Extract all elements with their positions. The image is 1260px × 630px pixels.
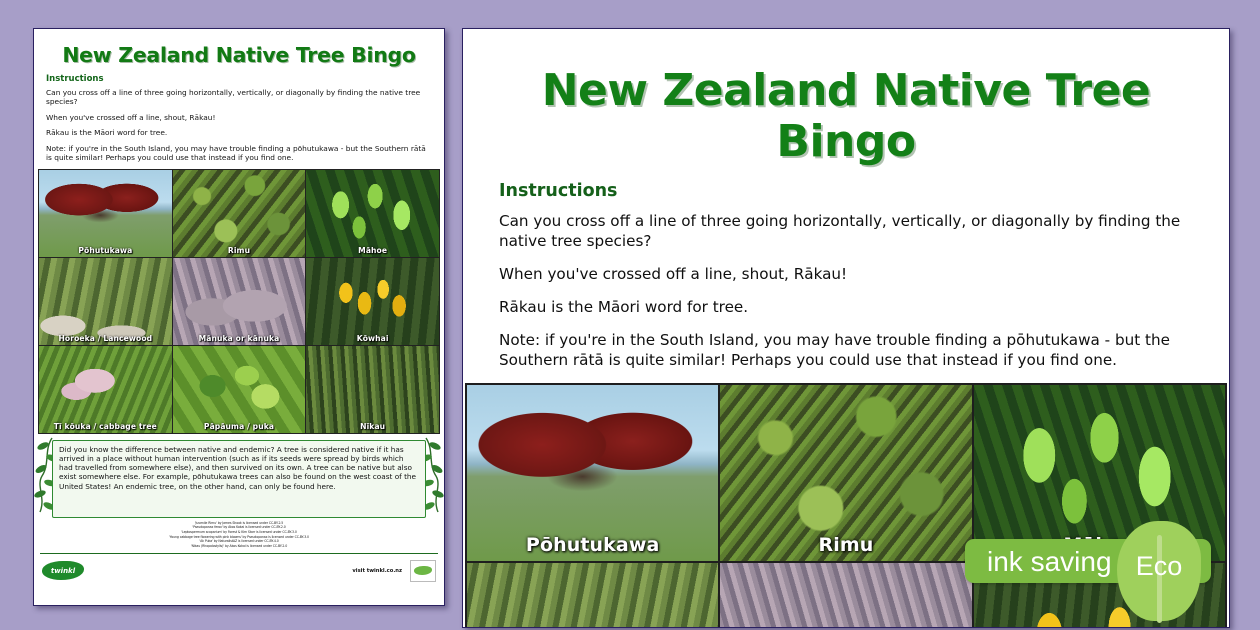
paragraph-1: Can you cross off a line of three going … bbox=[499, 211, 1195, 251]
paragraph-4: Note: if you're in the South Island, you… bbox=[499, 330, 1195, 370]
instructions-heading: Instructions bbox=[499, 181, 1195, 201]
bingo-cell-label: Pōhutukawa bbox=[467, 534, 718, 556]
bingo-cell[interactable]: Kōwhai bbox=[306, 258, 439, 345]
bingo-cell-label: Horoeka / Lancewood bbox=[39, 334, 172, 343]
bingo-cell[interactable]: Mānuka or kānuka bbox=[720, 563, 971, 628]
thumbnail-paragraph-2: When you've crossed off a line, shout, R… bbox=[46, 113, 432, 122]
eco-badge-label: ink saving bbox=[987, 546, 1112, 578]
bingo-cell[interactable]: Horoeka / Lancewood bbox=[39, 258, 172, 345]
bingo-cell[interactable]: Pōhutukawa bbox=[39, 170, 172, 257]
bingo-cell[interactable]: Nīkau bbox=[306, 346, 439, 433]
tree-photo bbox=[39, 170, 172, 257]
thumbnail-paragraph-1: Can you cross off a line of three going … bbox=[46, 88, 432, 107]
thumbnail-page-title: New Zealand Native Tree Bingo bbox=[46, 43, 432, 67]
tree-photo bbox=[306, 346, 439, 433]
bingo-cell[interactable]: Pōhutukawa bbox=[467, 385, 718, 561]
attribution-line: 'Nikau (Rhopalostylis)' by Akos Kokai is… bbox=[40, 544, 438, 549]
tree-photo bbox=[173, 170, 306, 257]
page-title: New Zealand Native Tree Bingo bbox=[497, 65, 1195, 167]
bingo-cell-label: Rimu bbox=[720, 534, 971, 556]
bingo-cell-label: Tī kōuka / cabbage tree bbox=[39, 422, 172, 431]
visit-url-text[interactable]: visit twinkl.co.nz bbox=[352, 568, 402, 574]
thumbnail-paragraph-4: Note: if you're in the South Island, you… bbox=[46, 144, 432, 163]
thumbnail-attributions: 'Juvenile Rimu' by James Shook is licens… bbox=[40, 521, 438, 549]
screenshot-canvas: New Zealand Native Tree Bingo Instructio… bbox=[0, 0, 1260, 630]
bingo-cell[interactable]: Māhoe bbox=[306, 170, 439, 257]
tree-photo bbox=[173, 346, 306, 433]
bingo-cell[interactable]: Mānuka or kānuka bbox=[173, 258, 306, 345]
bingo-cell-label: Rimu bbox=[173, 246, 306, 255]
thumbnail-info-box-text: Did you know the difference between nati… bbox=[52, 440, 426, 518]
paragraph-3: Rākau is the Māori word for tree. bbox=[499, 297, 1195, 317]
tree-photo bbox=[306, 170, 439, 257]
footer-divider bbox=[40, 553, 438, 554]
bingo-cell[interactable]: Horoeka / Lancewood bbox=[467, 563, 718, 628]
leaf-icon: Eco bbox=[1117, 521, 1201, 621]
tree-photo bbox=[720, 563, 971, 628]
bingo-cell-label: Nīkau bbox=[306, 422, 439, 431]
ink-saving-eco-badge: ink saving Eco bbox=[965, 531, 1217, 589]
thumbnail-paragraph-3: Rākau is the Māori word for tree. bbox=[46, 128, 432, 137]
tree-photo bbox=[467, 563, 718, 628]
eco-stamp-icon bbox=[410, 560, 436, 582]
bingo-cell-label: Māhoe bbox=[306, 246, 439, 255]
tree-photo bbox=[173, 258, 306, 345]
tree-photo bbox=[39, 258, 172, 345]
tree-photo bbox=[306, 258, 439, 345]
bingo-cell-label: Pōhutukawa bbox=[39, 246, 172, 255]
bingo-cell-label: Pāpāuma / puka bbox=[173, 422, 306, 431]
twinkl-logo[interactable]: twinkl bbox=[42, 561, 84, 580]
bingo-cell[interactable]: Pāpāuma / puka bbox=[173, 346, 306, 433]
bingo-cell-label: Kōwhai bbox=[306, 334, 439, 343]
tree-photo bbox=[39, 346, 172, 433]
bingo-cell-label: Mānuka or kānuka bbox=[173, 334, 306, 343]
eco-badge-leaf-label: Eco bbox=[1117, 551, 1201, 582]
thumbnail-footer: twinkl visit twinkl.co.nz bbox=[42, 558, 436, 584]
bingo-cell[interactable]: Rimu bbox=[173, 170, 306, 257]
thumbnail-bingo-grid: PōhutukawaRimuMāhoeHoroeka / LancewoodMā… bbox=[38, 169, 440, 434]
bingo-cell[interactable]: Tī kōuka / cabbage tree bbox=[39, 346, 172, 433]
paragraph-2: When you've crossed off a line, shout, R… bbox=[499, 264, 1195, 284]
document-thumbnail-preview[interactable]: New Zealand Native Tree Bingo Instructio… bbox=[33, 28, 445, 606]
bingo-cell[interactable]: Rimu bbox=[720, 385, 971, 561]
thumbnail-instructions-heading: Instructions bbox=[46, 74, 432, 84]
thumbnail-info-box-wrapper: Did you know the difference between nati… bbox=[38, 440, 440, 518]
bingo-grid: PōhutukawaRimuMāhoeHoroeka / LancewoodMā… bbox=[465, 383, 1227, 628]
